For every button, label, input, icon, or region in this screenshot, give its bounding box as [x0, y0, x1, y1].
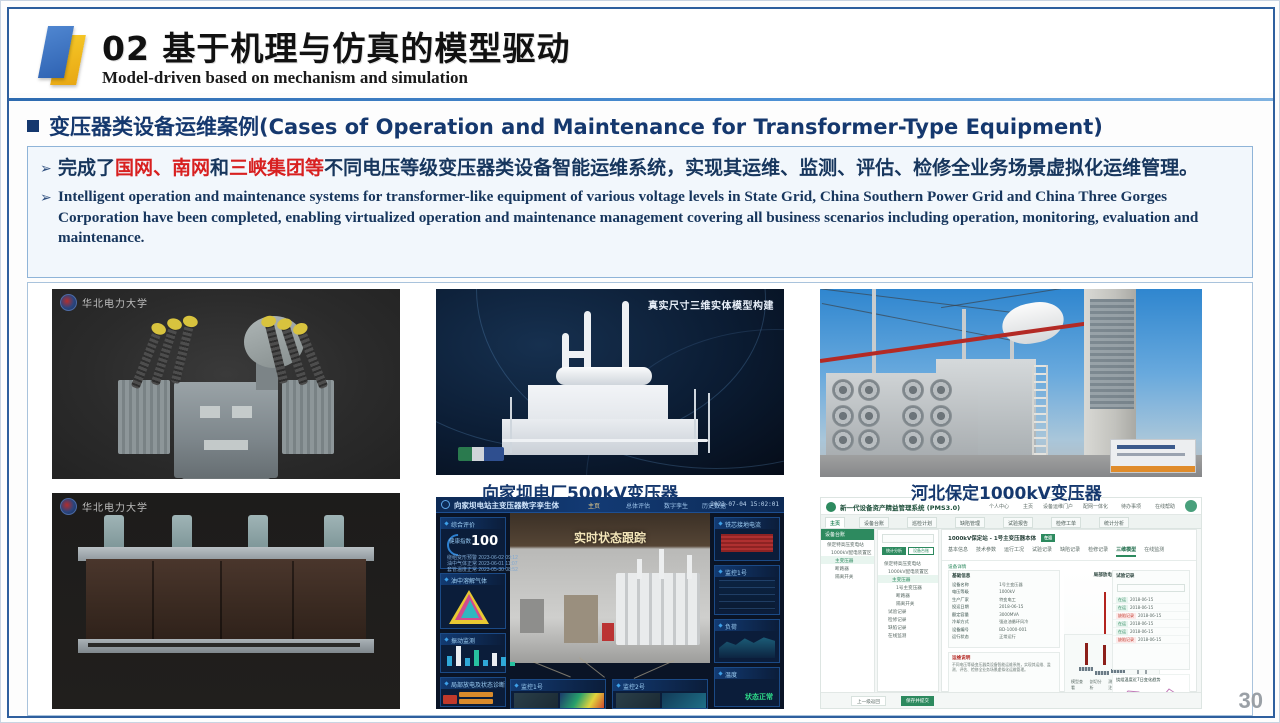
row-4-date: 2018-06-15 [1130, 629, 1153, 635]
overlay-label-3d-model: 真实尺寸三维实体模型构建 [648, 297, 774, 312]
app-breadcrumb: 1000kV保定站 - 1号主变压器本体 在运 [942, 530, 1196, 542]
filter-tree-item-0[interactable]: 保定特高压变电站 [878, 559, 938, 567]
kv-val-6: BD-1000-001 [999, 627, 1027, 633]
sidebar-tree-item-4[interactable]: 隔离开关 [821, 572, 874, 580]
app-filter-panel: 统计分析 设备台账 保定特高压变电站 1000kV配电装置区 主变压器 1号主变… [877, 529, 939, 692]
support-post-1 [510, 397, 512, 453]
kv-key-7: 运行状态 [952, 634, 999, 640]
app-subtab-4[interactable]: 缺陷记录 [1060, 546, 1080, 557]
app-tab-1[interactable]: 设备台账 [859, 517, 889, 528]
cooling-fan-1 [832, 379, 854, 401]
camera1-thumb-infrared [560, 693, 604, 708]
section-heading-text: 变压器类设备运维案例(Cases of Operation and Mainte… [49, 111, 1103, 141]
trend-title: 绕组温度近7日变化趋势 [1113, 675, 1189, 683]
sidebar-tree-item-1[interactable]: 1000kV配电装置区 [821, 548, 874, 556]
app-subtab-0[interactable]: 基本信息 [948, 546, 968, 557]
caption-middle: 向家坝电厂500kV变压器 [482, 479, 678, 504]
parallelogram-logo-icon [37, 23, 99, 85]
card-iron-title: 铁芯接地电流 [715, 518, 779, 529]
camera2-thumb-blue [662, 693, 706, 708]
kv-row-3: 投运日期2018-06-15 [949, 603, 1059, 611]
support-post-2 [694, 389, 696, 453]
university-watermark-2: 华北电力大学 [60, 498, 148, 515]
scan-tank-body [86, 559, 366, 643]
slide-root: 02 基于机理与仿真的模型驱动 Model-driven based on me… [0, 0, 1280, 723]
scan-bushing-2 [172, 515, 192, 551]
zh-seg-4-red: 三峡集团等 [229, 157, 324, 179]
app-subtab-6[interactable]: 三维模型 [1116, 546, 1136, 557]
cooling-fan-7 [902, 379, 924, 401]
card-camera1-title: 监控1号 [511, 680, 605, 691]
card-trend-title: 负荷 [715, 620, 779, 631]
university-seal-icon-2 [60, 498, 77, 515]
kv-key-3: 投运日期 [952, 604, 999, 610]
access-ladder [1032, 365, 1048, 457]
app-topnav-3[interactable]: 配网一体化 [1083, 503, 1108, 510]
footer-back-button[interactable]: 上一级返回 [851, 696, 886, 706]
sign-line-2 [1117, 453, 1185, 456]
camera2-thumb-visible [616, 693, 660, 708]
riser-pipe-1 [584, 311, 591, 373]
zh-seg-5: 不同电压等级变压器类设备智能运维系统，实现其运维、监测、评估、检修全业务场景虚拟… [324, 157, 1198, 179]
app-topnav-2[interactable]: 设备运维门户 [1043, 503, 1073, 510]
card-health-title: 综合评价 [441, 518, 505, 529]
sidebar-tree-item-0[interactable]: 保定特高压变电站 [821, 540, 874, 548]
viewer-post-2 [1103, 645, 1106, 665]
substation-sign [1110, 439, 1196, 473]
card-camera-1: 监控1号 [510, 679, 606, 709]
card-dissolved-gas: 油中溶解气体 [440, 573, 506, 629]
row-0-date: 2018-06-15 [1130, 597, 1153, 603]
table-row-4[interactable]: 在运2018-06-15 [1113, 628, 1189, 636]
arrow-bullet-icon: ➢ [38, 154, 58, 182]
support-post-3 [708, 393, 710, 453]
tank-panel-left [200, 406, 220, 418]
cooling-fan-2 [858, 379, 880, 401]
section-heading: 变压器类设备运维案例(Cases of Operation and Mainte… [27, 111, 1103, 141]
nameplate [204, 440, 248, 450]
load-area-chart [719, 633, 775, 658]
app-tab-4[interactable]: 试验报告 [1003, 517, 1033, 528]
kv-key-5: 冷却方式 [952, 619, 999, 625]
university-watermark: 华北电力大学 [60, 294, 148, 311]
sidebar-header: 设备台账 [821, 529, 874, 540]
row-3-date: 2018-06-15 [1130, 621, 1153, 627]
cross-pipe-1 [562, 351, 590, 358]
image-substation-photo [820, 289, 1202, 477]
partial-chip-1 [459, 692, 493, 697]
app-topnav-0[interactable]: 个人中心 [989, 503, 1009, 510]
kv-key-6: 设备编号 [952, 627, 999, 633]
row-5-date: 2018-06-15 [1138, 637, 1161, 643]
card-camera2-title: 监控2号 [613, 680, 707, 691]
kv-key-2: 生产厂家 [952, 597, 999, 603]
partial-chip-2 [459, 699, 493, 704]
app-subtab-7[interactable]: 在线监测 [1144, 546, 1164, 557]
row-1-chip: 在运 [1116, 605, 1128, 611]
cooling-fan-9 [902, 405, 924, 427]
records-title: 试验记录 [1113, 571, 1189, 580]
filter-search-input[interactable] [882, 534, 934, 543]
table-row-2[interactable]: 缺陷记录2018-06-15 [1113, 612, 1189, 620]
health-score-value: 100 [471, 534, 498, 549]
radiator-left [118, 380, 170, 454]
filter-reset-button[interactable]: 设备台账 [908, 547, 934, 555]
scene-pipe-1 [687, 555, 692, 579]
app-subtab-1[interactable]: 技术参数 [976, 546, 996, 557]
description-textbox: ➢ 完成了国网、南网和三峡集团等不同电压等级变压器类设备智能运维系统，实现其运维… [27, 146, 1253, 278]
card-camera-2: 监控2号 [612, 679, 708, 709]
app-tab-6[interactable]: 统计分析 [1099, 517, 1129, 528]
filter-tree-item-4[interactable]: 断路器 [878, 591, 938, 599]
page-title-zh: 02 基于机理与仿真的模型驱动 [102, 22, 570, 70]
scene-cabinet-2 [520, 599, 544, 633]
kv-val-0: 1号主变压器 [999, 582, 1023, 588]
kv-key-0: 设备名称 [952, 582, 999, 588]
app-subtab-3[interactable]: 试验记录 [1032, 546, 1052, 557]
dashboard-center-scene: 实时状态跟踪 [510, 513, 710, 663]
filter-query-button[interactable]: 统计分析 [882, 547, 906, 555]
row-2-chip: 缺陷记录 [1116, 613, 1136, 619]
pylon-grill [1090, 299, 1134, 409]
image-3d-transformer-model-dark: 华北电力大学 [52, 289, 400, 479]
image-digital-twin-dashboard: 向家坝电站主变压器数字孪生体 主页 总体评估 数字孪生 历史数据 2023-07… [436, 497, 784, 709]
viewer-coil-2 [1095, 671, 1109, 675]
breadcrumb-text: 1000kV保定站 - 1号主变压器本体 [948, 536, 1036, 542]
cooling-fan-3 [832, 405, 854, 427]
university-seal-icon [60, 294, 77, 311]
panel-note-title: 运维说明 [949, 653, 1059, 662]
panel-basic-title: 基础信息 [949, 571, 1059, 580]
filter-tree-item-6[interactable]: 试验记录 [878, 607, 938, 615]
card-partial-title: 局部放电及状态诊断 [441, 678, 505, 689]
scan-bushing-1 [104, 515, 124, 551]
kv-row-4: 额定容量3000MVA [949, 610, 1059, 618]
filter-tree-item-1[interactable]: 1000kV配电装置区 [878, 567, 938, 575]
app-tabbar: 主页 设备台账 巡检计划 缺陷管理 试验报告 检修工单 统计分析 [821, 515, 1201, 529]
app-logo-icon [826, 502, 836, 512]
scan-rib-2 [220, 561, 222, 641]
scale-reference-vehicles [458, 447, 504, 461]
partial-alert-chip [443, 695, 457, 704]
arrow-bullet-icon-2: ➢ [38, 187, 58, 207]
page-title-en: Model-driven based on mechanism and simu… [102, 68, 468, 88]
card-diagram-title: 监控1号 [715, 566, 779, 577]
app-tab-0[interactable]: 主页 [825, 517, 845, 528]
user-avatar[interactable] [1185, 500, 1197, 512]
cooling-fan-11 [902, 429, 924, 451]
app-topnav-4[interactable]: 待办事项 [1121, 503, 1141, 510]
card-iron-core-current: 铁芯接地电流 [714, 517, 780, 561]
transformer-tank-lower [502, 419, 698, 455]
zh-seg-2-red: 国网、南网 [115, 157, 210, 179]
iron-core-heatmap [721, 534, 773, 552]
card-load-trend: 负荷 [714, 619, 780, 663]
image-3d-transformer-navy: 真实尺寸三维实体模型构建 [436, 289, 784, 475]
health-gauge-label: 健康指数 [449, 537, 471, 545]
app-tab-5[interactable]: 检修工单 [1051, 517, 1081, 528]
kv-key-4: 额定容量 [952, 612, 999, 618]
card-temp-title: 温度 [715, 668, 779, 679]
kv-row-2: 生产厂家特变电工 [949, 595, 1059, 603]
slide-header: 02 基于机理与仿真的模型驱动 Model-driven based on me… [9, 9, 1273, 93]
zh-seg-3: 和 [210, 157, 229, 179]
tank-panel-right [232, 406, 252, 418]
diagram-grid [719, 580, 775, 610]
zh-seg-1: 完成了 [58, 157, 115, 179]
camera1-thumb-visible [514, 693, 558, 708]
kv-val-3: 2018-06-15 [999, 604, 1023, 610]
kv-val-2: 特变电工 [999, 597, 1016, 603]
kv-row-6: 设备编号BD-1000-001 [949, 625, 1059, 633]
vibration-bar-chart [447, 640, 515, 666]
filter-tree-item-7[interactable]: 检修记录 [878, 615, 938, 623]
caption-right: 河北保定1000kV变压器 [911, 479, 1102, 504]
app-footer: 上一级返回 保存并提交 [821, 692, 1201, 708]
university-watermark-text-2: 华北电力大学 [82, 499, 148, 514]
app-topnav-1[interactable]: 主页 [1023, 503, 1033, 510]
row-2-date: 2018-06-15 [1138, 613, 1161, 619]
tool-label-1[interactable]: 剖切分析 [1090, 679, 1104, 691]
kv-val-1: 1000kV [999, 589, 1015, 595]
gas-triangle-chart-3 [461, 600, 479, 618]
cooling-fan-10 [930, 405, 952, 427]
cooling-fan-4 [858, 405, 880, 427]
radiator-bank-2 [894, 373, 978, 455]
health-row-2: 套管温度正常 2023-05-30 08:52 [447, 566, 518, 573]
frame-border-left [7, 7, 9, 718]
kv-row-1: 电压等级1000kV [949, 588, 1059, 596]
filter-tree-item-3[interactable]: 1号主变压器 [878, 583, 938, 591]
table-row-0[interactable]: 在运2018-06-15 [1113, 596, 1189, 604]
riser-pipe-2 [622, 301, 629, 371]
status-badge: 在运 [1041, 534, 1055, 542]
row-5-chip: 缺陷记录 [1116, 637, 1136, 643]
table-row-3[interactable]: 在运2018-06-15 [1113, 620, 1189, 628]
panel-test-records: 试验记录 在运2018-06-15 在运2018-06-15 缺陷记录2018-… [1112, 570, 1190, 670]
card-gas-title: 油中溶解气体 [441, 574, 505, 585]
kv-val-5: 强迫油循环风冷 [999, 619, 1028, 625]
scene-pipe-3 [637, 559, 642, 579]
app-subtab-2[interactable]: 运行工况 [1004, 546, 1024, 557]
sign-accent-bar [1111, 466, 1195, 472]
bullet-english-text: Intelligent operation and maintenance sy… [58, 187, 1240, 249]
app-subtabs: 基本信息 技术参数 运行工况 试验记录 缺陷记录 检修记录 三维模型 在线监测 [942, 542, 1196, 561]
row-3-chip: 在运 [1116, 621, 1128, 627]
kv-val-7: 正常运行 [999, 634, 1016, 640]
scene-pipe-2 [659, 549, 664, 579]
scan-bushing-4 [324, 515, 344, 551]
scene-panel-red [602, 623, 614, 641]
kv-key-1: 电压等级 [952, 589, 999, 595]
dashboard-center-title: 实时状态跟踪 [510, 529, 710, 546]
panel-basic-info: 基础信息 设备名称1号主变压器 电压等级1000kV 生产厂家特变电工 投运日期… [948, 570, 1060, 648]
app-sidebar-tree: 设备台账 保定特高压变电站 1000kV配电装置区 主变压器 断路器 隔离开关 [821, 529, 875, 692]
scan-bushing-3 [248, 515, 268, 551]
card-temperature: 温度 状态正常 [714, 667, 780, 707]
filter-tree-item-2[interactable]: 主变压器 [878, 575, 938, 583]
row-1-date: 2018-06-15 [1130, 605, 1153, 611]
viewer-post-1 [1085, 643, 1088, 665]
filter-tree-item-9[interactable]: 在线监测 [878, 631, 938, 639]
app-topnav-5[interactable]: 在线帮助 [1155, 503, 1175, 510]
records-search-input[interactable] [1117, 584, 1185, 592]
viewer-coil-1 [1079, 667, 1093, 671]
app-subtab-5[interactable]: 检修记录 [1088, 546, 1108, 557]
image-scanned-transformer: 华北电力大学 [52, 493, 400, 709]
kv-row-7: 运行状态正常运行 [949, 633, 1059, 641]
sign-line-1 [1117, 445, 1175, 449]
cooling-fan-8 [930, 379, 952, 401]
filter-tree-item-8[interactable]: 缺陷记录 [878, 623, 938, 631]
leader-line-1 [533, 662, 570, 678]
card-health-index: 综合评价 健康指数 100 绕组变形预警 2023-06-02 09:12 油中… [440, 517, 506, 569]
university-watermark-text: 华北电力大学 [82, 295, 148, 310]
tool-label-0[interactable]: 模型查看 [1071, 679, 1085, 691]
app-tab-2[interactable]: 巡检计划 [907, 517, 937, 528]
square-bullet-icon [27, 120, 39, 132]
radiator-right [282, 380, 334, 454]
ground-pipe [502, 439, 708, 442]
transformer-base [182, 478, 270, 479]
card-partial-discharge: 局部放电及状态诊断 [440, 677, 506, 707]
filter-tree-item-5[interactable]: 隔离开关 [878, 599, 938, 607]
filter-button-row: 统计分析 设备台账 [882, 547, 934, 555]
row-4-chip: 在运 [1116, 629, 1128, 635]
cooling-fan-6 [858, 429, 880, 451]
app-tab-3[interactable]: 缺陷管理 [955, 517, 985, 528]
temperature-status: 状态正常 [745, 692, 773, 702]
scan-rib-1 [152, 561, 154, 641]
card-vibration: 振动监测 [440, 633, 506, 673]
frame-border-bottom [7, 716, 1275, 718]
bullet-english: ➢ Intelligent operation and maintenance … [38, 187, 1240, 249]
kv-row-0: 设备名称1号主变压器 [949, 580, 1059, 588]
scan-rib-3 [292, 561, 294, 641]
kv-val-4: 3000MVA [999, 612, 1019, 618]
transformer-tank [174, 382, 278, 478]
bullet-chinese-text: 完成了国网、南网和三峡集团等不同电压等级变压器类设备智能运维系统，实现其运维、监… [58, 154, 1198, 183]
dashboard-logo-icon [441, 500, 450, 509]
footer-submit-button[interactable]: 保存并提交 [901, 696, 934, 706]
panel-note-body: 不同电压等级变压器类设备智能运维系统，实现其运维、监测、评估、检修全业务场景虚拟… [949, 662, 1059, 672]
image-asset-management-app: 新一代设备资产精益管理系统 (PMS3.0) 个人中心 主页 设备运维门户 配网… [820, 497, 1202, 709]
sidebar-tree-item-2[interactable]: 主变压器 [821, 556, 874, 564]
frame-border-right [1273, 7, 1275, 718]
app-main-content: 1000kV保定站 - 1号主变压器本体 在运 基本信息 技术参数 运行工况 试… [941, 529, 1197, 692]
bullet-chinese: ➢ 完成了国网、南网和三峡集团等不同电压等级变压器类设备智能运维系统，实现其运维… [38, 154, 1240, 183]
conservator-cylinder [556, 367, 652, 385]
dashboard-timestamp: 2023-07-04 15:02:01 [710, 501, 779, 508]
sidebar-tree-item-3[interactable]: 断路器 [821, 564, 874, 572]
card-monitoring-diagram: 监控1号 [714, 565, 780, 615]
cooling-fan-5 [832, 429, 854, 451]
page-number: 30 [1239, 688, 1263, 714]
scene-equipment-rack [616, 573, 700, 645]
table-row-1[interactable]: 在运2018-06-15 [1113, 604, 1189, 612]
table-row-5[interactable]: 缺陷记录2018-06-15 [1113, 636, 1189, 644]
row-0-chip: 在运 [1116, 597, 1128, 603]
header-divider [9, 98, 1273, 101]
kv-row-5: 冷却方式强迫油循环风冷 [949, 618, 1059, 626]
scene-cabinet-1 [564, 595, 598, 643]
scan-ground-pipe [88, 643, 360, 647]
cooling-fan-12 [930, 429, 952, 451]
